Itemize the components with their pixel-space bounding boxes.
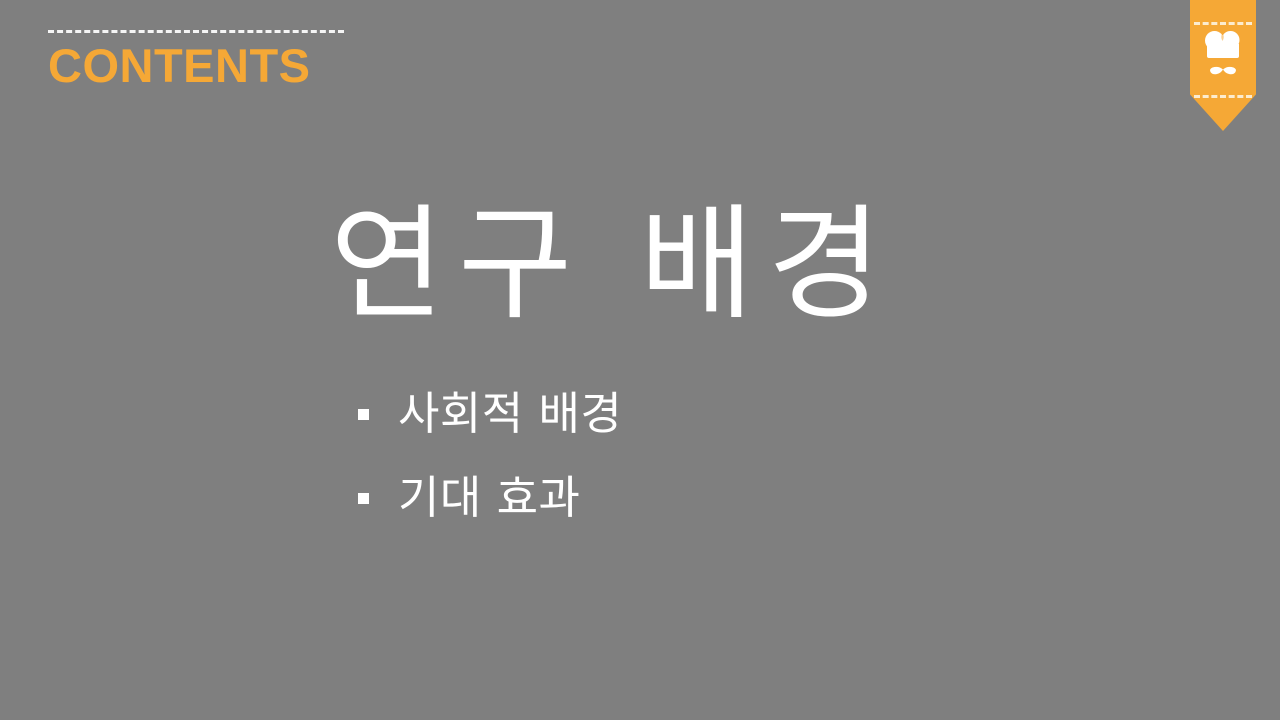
ribbon-badge xyxy=(1190,0,1256,131)
list-item-label: 사회적 배경 xyxy=(398,391,622,436)
bullet-square-icon xyxy=(358,409,369,420)
section-title: 연구 배경 xyxy=(330,196,870,335)
ribbon-dashed-line-top xyxy=(1194,22,1252,25)
bullet-square-icon xyxy=(358,493,369,504)
presentation-slide: CONTENTS 연구 배경 사회적 배경 xyxy=(0,0,1280,720)
slide-header: CONTENTS xyxy=(48,30,344,89)
list-item: 사회적 배경 xyxy=(358,371,978,455)
list-item: 기대 효과 xyxy=(358,455,978,539)
chef-hat-icon xyxy=(1200,28,1246,82)
mustache-icon xyxy=(1210,67,1236,74)
page-title: CONTENTS xyxy=(48,42,344,89)
header-dashed-rule xyxy=(48,30,344,33)
ribbon-dashed-line-bottom xyxy=(1194,95,1252,98)
bullet-list: 사회적 배경 기대 효과 xyxy=(358,371,978,539)
list-item-label: 기대 효과 xyxy=(398,475,580,520)
